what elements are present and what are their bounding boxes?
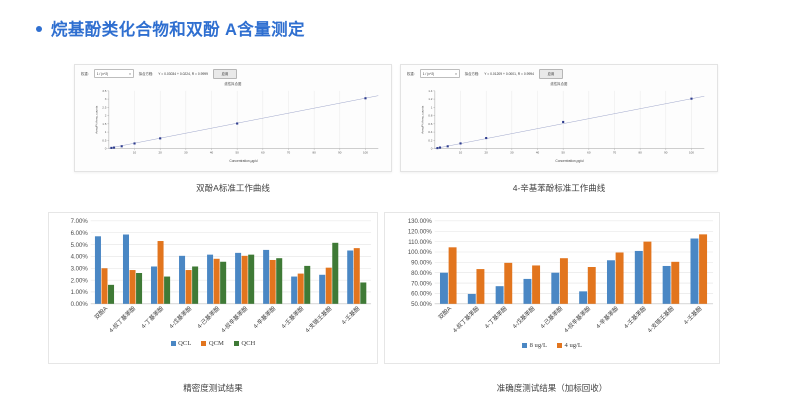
y-tick-label: 110.00%	[408, 240, 432, 246]
legend-label: QCH	[241, 340, 255, 347]
bpa-caption: 双酚A标准工作曲线	[74, 182, 392, 194]
x-category-label: 4-丁基苯酚	[139, 304, 165, 330]
bar	[298, 274, 304, 304]
chevron-down-icon: ▾	[455, 72, 457, 76]
bar	[440, 273, 448, 304]
y-tick-label: 0.2	[428, 138, 432, 142]
legend-item: 4 ug/L	[557, 342, 582, 349]
x-tick-label: 60	[587, 150, 591, 154]
x-category-label: 4-支链壬基酚	[646, 304, 676, 334]
y-tick-label: 5.00%	[71, 243, 89, 249]
data-point	[364, 97, 366, 99]
weight-select-value: 1 / (x^2)	[423, 72, 434, 76]
data-point	[439, 146, 441, 148]
data-point	[110, 146, 112, 148]
x-category-label: 双酚A	[92, 304, 109, 321]
legend-label: 8 ug/L	[530, 342, 547, 349]
x-category-label: 双酚A	[436, 304, 453, 321]
legend-swatch-icon	[557, 343, 562, 348]
y-tick-label: 90.00%	[411, 261, 432, 267]
data-point	[447, 145, 449, 147]
y-tick-label: 1.5	[102, 121, 106, 125]
x-tick-label: 10	[459, 150, 463, 154]
bar	[270, 260, 276, 304]
x-category-label: 4-叔辛基苯酚	[562, 304, 592, 334]
bar	[635, 251, 643, 304]
bar	[242, 256, 248, 304]
data-point	[133, 142, 135, 144]
x-tick-label: 70	[613, 150, 617, 154]
x-tick-label: 90	[664, 150, 668, 154]
plot-area: 00.20.40.60.811.21.410203040506070809010…	[420, 89, 704, 163]
bar	[468, 294, 476, 304]
x-tick-label: 20	[485, 150, 489, 154]
fit-equation-label: 拟合方程:	[139, 71, 154, 76]
weight-label: 权重:	[407, 71, 415, 76]
bar	[607, 260, 615, 304]
fit-equation-label: 拟合方程:	[465, 71, 480, 76]
x-tick-label: 20	[159, 150, 163, 154]
bar	[214, 259, 220, 304]
fit-equation-value: Y = 0.03034 + 0.0224, R = 0.9999	[158, 72, 208, 76]
bullet-icon	[36, 26, 42, 32]
legend-swatch-icon	[171, 341, 176, 346]
bar	[496, 286, 504, 304]
y-axis-label: Area/Pt Area, counts	[420, 105, 424, 134]
op-caption: 4-辛基苯酚标准工作曲线	[400, 182, 718, 194]
y-tick-label: 120.00%	[408, 230, 433, 236]
op-chart-subtitle: 线性拟合图	[401, 81, 717, 86]
legend-swatch-icon	[201, 341, 206, 346]
x-category-label: 4-丁基苯酚	[483, 304, 509, 330]
x-tick-label: 70	[287, 150, 291, 154]
bar	[95, 236, 101, 304]
bar	[319, 275, 325, 304]
bar	[235, 253, 241, 304]
legend-item: 8 ug/L	[522, 342, 547, 349]
bar	[151, 266, 157, 303]
y-tick-label: 2	[105, 113, 107, 117]
bar	[360, 282, 366, 303]
x-category-label: 4-己基苯酚	[538, 304, 564, 330]
y-tick-label: 0	[105, 146, 107, 150]
y-tick-label: 100.00%	[408, 250, 433, 256]
bar	[291, 277, 297, 304]
y-tick-label: 0.5	[102, 138, 106, 142]
plot-area: 50.00%60.00%70.00%80.00%90.00%100.00%110…	[408, 219, 713, 334]
op-scatter-plot: 00.20.40.60.811.21.410203040506070809010…	[401, 87, 717, 166]
bar	[101, 268, 107, 304]
chevron-down-icon: ▾	[129, 72, 131, 76]
bpa-scatter-plot: 00.511.522.533.5102030405060708090100Con…	[75, 87, 391, 166]
y-tick-label: 70.00%	[411, 281, 432, 287]
x-tick-label: 50	[562, 150, 566, 154]
bar	[504, 263, 512, 304]
data-point	[236, 122, 238, 124]
legend-item: QCM	[201, 340, 224, 347]
bar	[551, 273, 559, 304]
x-tick-label: 40	[210, 150, 214, 154]
bar	[690, 239, 698, 304]
y-tick-label: 1	[431, 105, 433, 109]
y-tick-label: 0	[431, 146, 433, 150]
y-tick-label: 2.5	[102, 105, 106, 109]
x-category-label: 4-支链壬基酚	[303, 304, 333, 334]
x-category-label: 4-壬基苯酚	[622, 304, 648, 330]
op-toolbar: 权重: 1 / (x^2) ▾ 拟合方程: Y = 0.01209 + 0.00…	[401, 65, 717, 81]
x-category-label: 4-壬基酚	[340, 304, 362, 326]
y-tick-label: 4.00%	[71, 255, 89, 261]
bar	[276, 258, 282, 304]
x-category-label: 4-壬基苯酚	[279, 304, 305, 330]
x-tick-label: 30	[184, 150, 188, 154]
weight-select[interactable]: 1 / (x^2) ▾	[94, 69, 134, 78]
data-point	[459, 142, 461, 144]
trend-line	[109, 95, 378, 148]
accuracy-caption: 准确度测试结果（加标回收）	[384, 382, 720, 394]
y-tick-label: 60.00%	[411, 292, 432, 298]
bar	[354, 248, 360, 304]
bpa-scatter-svg: 00.511.522.533.5102030405060708090100Con…	[80, 87, 386, 164]
y-tick-label: 50.00%	[411, 302, 432, 308]
bar	[699, 234, 707, 303]
x-category-label: 4-戊基苯酚	[167, 304, 193, 330]
page-title-text: 烷基酚类化合物和双酚 A含量测定	[51, 16, 305, 40]
bar	[207, 255, 213, 304]
bar	[532, 265, 540, 303]
x-tick-label: 60	[261, 150, 265, 154]
x-category-label: 4-己基苯酚	[195, 304, 221, 330]
apply-button[interactable]: 应用	[539, 69, 563, 79]
bar	[108, 285, 114, 304]
bar	[164, 277, 170, 304]
bar	[304, 266, 310, 304]
x-tick-label: 90	[338, 150, 342, 154]
legend-item: QCH	[234, 340, 255, 347]
y-tick-label: 80.00%	[411, 271, 432, 277]
data-point	[436, 147, 438, 149]
bar	[326, 268, 332, 304]
x-category-label: 4-叔丁基苯酚	[451, 304, 481, 334]
x-category-label: 4-辛基苯酚	[594, 304, 620, 330]
precision-caption: 精密度测试结果	[48, 382, 378, 394]
op-calibration-panel: 权重: 1 / (x^2) ▾ 拟合方程: Y = 0.01209 + 0.00…	[400, 64, 718, 172]
bpa-calibration-panel: 权重: 1 / (x^2) ▾ 拟合方程: Y = 0.03034 + 0.02…	[74, 64, 392, 172]
bar	[476, 269, 484, 304]
bar	[588, 267, 596, 304]
x-tick-label: 100	[363, 150, 368, 154]
bar	[263, 250, 269, 304]
legend-item: QCL	[171, 340, 192, 347]
y-tick-label: 3	[105, 97, 107, 101]
bar	[643, 242, 651, 304]
x-category-label: 4-叔辛基苯酚	[219, 304, 249, 334]
y-tick-label: 1	[105, 130, 107, 134]
y-tick-label: 0.4	[428, 130, 432, 134]
y-tick-label: 0.6	[428, 121, 432, 125]
x-category-label: 4-叔丁基苯酚	[107, 304, 137, 334]
apply-button[interactable]: 应用	[213, 69, 237, 79]
bpa-chart-subtitle: 线性拟合图	[75, 81, 391, 86]
weight-label: 权重:	[81, 71, 89, 76]
bar	[616, 252, 624, 303]
x-tick-label: 50	[236, 150, 240, 154]
x-tick-label: 40	[536, 150, 540, 154]
x-tick-label: 10	[133, 150, 137, 154]
y-axis-label: Area/Pt Area, counts	[94, 105, 98, 134]
y-tick-label: 3.5	[102, 89, 106, 93]
bar	[123, 235, 129, 304]
accuracy-bar-svg: 50.00%60.00%70.00%80.00%90.00%100.00%110…	[385, 213, 719, 363]
bar	[186, 270, 192, 304]
bar	[158, 241, 164, 304]
plot-area: 00.511.522.533.5102030405060708090100Con…	[94, 89, 378, 163]
legend-label: QCM	[209, 340, 224, 347]
x-category-label: 4-壬基酚	[682, 304, 704, 326]
legend-swatch-icon	[234, 341, 239, 346]
page-title: 烷基酚类化合物和双酚 A含量测定	[36, 16, 305, 40]
y-tick-label: 6.00%	[71, 231, 89, 237]
y-tick-label: 130.00%	[408, 219, 433, 225]
bar	[523, 279, 531, 304]
x-tick-label: 80	[312, 150, 316, 154]
fit-equation-value: Y = 0.01209 + 0.0001, R = 0.9994	[484, 72, 534, 76]
bar	[671, 262, 679, 304]
y-tick-label: 1.00%	[71, 290, 89, 296]
x-tick-label: 100	[689, 150, 694, 154]
op-scatter-svg: 00.20.40.60.811.21.410203040506070809010…	[406, 87, 712, 164]
y-tick-label: 2.00%	[71, 278, 89, 284]
data-point	[690, 97, 692, 99]
slide-root: 烷基酚类化合物和双酚 A含量测定 权重: 1 / (x^2) ▾ 拟合方程: Y…	[0, 0, 800, 408]
data-point	[485, 137, 487, 139]
data-point	[562, 120, 564, 122]
x-axis-label: Concentration,pg/ul	[555, 159, 584, 163]
x-category-label: 4-戊基苯酚	[511, 304, 537, 330]
y-tick-label: 0.00%	[71, 302, 89, 308]
bar	[179, 256, 185, 304]
bar	[220, 262, 226, 304]
legend-swatch-icon	[522, 343, 527, 348]
weight-select[interactable]: 1 / (x^2) ▾	[420, 69, 460, 78]
y-tick-label: 7.00%	[71, 219, 89, 225]
bar	[663, 266, 671, 304]
bar	[248, 255, 254, 304]
bar	[347, 251, 353, 304]
bar	[579, 291, 587, 303]
weight-select-value: 1 / (x^2)	[97, 72, 108, 76]
bpa-toolbar: 权重: 1 / (x^2) ▾ 拟合方程: Y = 0.03034 + 0.02…	[75, 65, 391, 81]
plot-area: 0.00%1.00%2.00%3.00%4.00%5.00%6.00%7.00%…	[71, 219, 371, 334]
bar	[449, 247, 457, 303]
legend-label: 4 ug/L	[565, 342, 582, 349]
y-tick-label: 0.8	[428, 113, 432, 117]
y-tick-label: 3.00%	[71, 267, 89, 273]
bar	[130, 270, 136, 304]
bar	[136, 273, 142, 304]
data-point	[159, 137, 161, 139]
x-tick-label: 30	[510, 150, 514, 154]
data-point	[121, 145, 123, 147]
trend-line	[435, 96, 704, 148]
data-point	[113, 146, 115, 148]
precision-legend: QCLQCMQCH	[48, 340, 378, 347]
bar	[332, 243, 338, 304]
x-category-label: 4-辛基苯酚	[251, 304, 277, 330]
bar	[192, 266, 198, 303]
accuracy-legend: 8 ug/L4 ug/L	[384, 342, 720, 349]
legend-label: QCL	[178, 340, 191, 347]
y-tick-label: 1.2	[428, 97, 432, 101]
x-tick-label: 80	[638, 150, 642, 154]
x-axis-label: Concentration,μg/ul	[229, 159, 258, 163]
y-tick-label: 1.4	[428, 89, 432, 93]
bar	[560, 258, 568, 304]
